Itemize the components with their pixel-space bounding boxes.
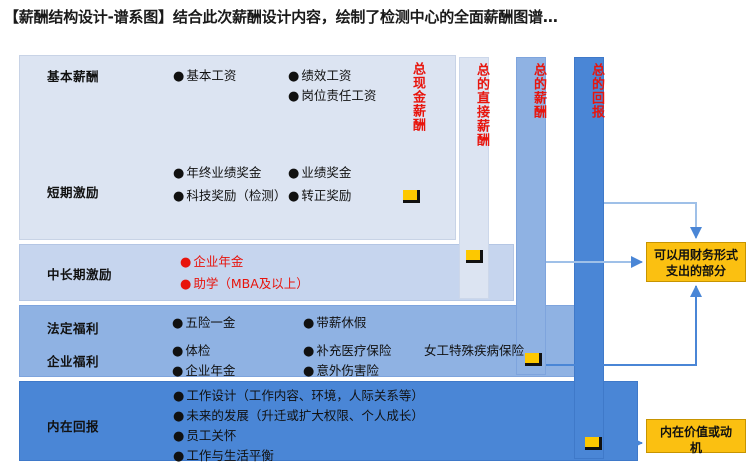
column-label-total-cash: 总现金薪酬 xyxy=(396,57,424,238)
row-short-term-item-3: ●业绩奖金 xyxy=(288,163,351,183)
row-label-mid-long-term-incentive: 中长期激励 xyxy=(47,264,112,283)
row-label-intrinsic-reward: 内在回报 xyxy=(47,416,99,435)
row-statutory-item-2: ●带薪休假 xyxy=(303,313,366,333)
arrow-direct-to-financial xyxy=(604,203,696,238)
callout-intrinsic-line1: 内在价值或动 xyxy=(647,424,745,440)
row-corporate-item-3: ●补充医疗保险 xyxy=(303,341,391,361)
row-statutory-item-1: ●五险一金 xyxy=(172,313,235,333)
column-label-total-reward: 总的回报 xyxy=(574,57,604,459)
note-icon-short-term[interactable] xyxy=(403,190,420,203)
row-short-term-item-2: ●科技奖励（检测） xyxy=(173,186,286,206)
row-short-term-item-4: ●转正奖励 xyxy=(288,186,351,206)
row-label-corporate-benefits: 企业福利 xyxy=(47,351,99,370)
callout-intrinsic-line2: 机 xyxy=(647,440,745,456)
row-corporate-item-1: ●体检 xyxy=(172,341,210,361)
page-title: 【薪酬结构设计-谱系图】结合此次薪酬设计内容，绘制了检测中心的全面薪酬图谱… xyxy=(4,4,752,30)
callout-intrinsic-value[interactable]: 内在价值或动 机 xyxy=(646,419,746,453)
row-label-short-term-incentive: 短期激励 xyxy=(47,182,99,201)
callout-financial-portion[interactable]: 可以用财务形式 支出的部分 xyxy=(646,242,746,282)
row-corporate-item-2: ●企业年金 xyxy=(172,361,235,381)
callout-financial-line1: 可以用财务形式 xyxy=(647,247,745,263)
row-label-statutory-benefits: 法定福利 xyxy=(47,318,99,337)
row-intrinsic-item-4: ●工作与生活平衡 xyxy=(173,446,274,466)
column-label-total-comp: 总的薪酬 xyxy=(516,57,546,375)
row-corporate-item-4: ●意外伤害险 xyxy=(303,361,379,381)
row-intrinsic-item-2: ●未来的发展（升迁或扩大权限、个人成长） xyxy=(173,406,424,426)
callout-financial-line2: 支出的部分 xyxy=(647,263,745,279)
row-base-pay-item-3: ●岗位责任工资 xyxy=(288,86,376,106)
row-intrinsic-item-3: ●员工关怀 xyxy=(173,426,236,446)
row-label-base-pay: 基本薪酬 xyxy=(47,66,99,85)
note-icon-benefits[interactable] xyxy=(525,353,542,366)
note-icon-mid-long-term[interactable] xyxy=(466,250,483,263)
note-icon-intrinsic[interactable] xyxy=(585,437,602,450)
row-short-term-item-1: ●年终业绩奖金 xyxy=(173,163,261,183)
row-intrinsic-item-1: ●工作设计（工作内容、环境，人际关系等） xyxy=(173,386,424,406)
row-base-pay-item-1: ●基本工资 xyxy=(173,66,236,86)
row-corporate-extra-note: 女工特殊疾病保险 xyxy=(424,340,524,359)
row-mid-long-item-1: ●企业年金 xyxy=(180,252,243,272)
row-base-pay-item-2: ●绩效工资 xyxy=(288,66,351,86)
row-mid-long-item-2: ●助学（MBA及以上） xyxy=(180,274,309,294)
